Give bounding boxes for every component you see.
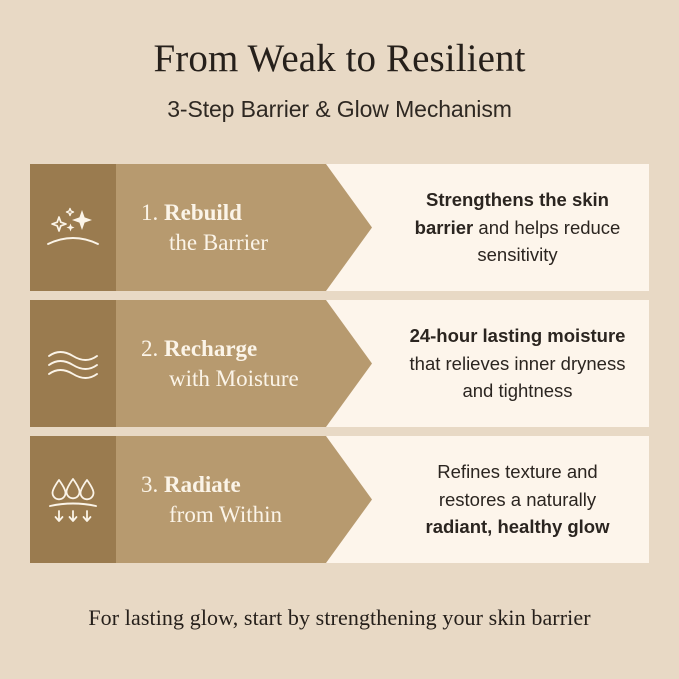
step-row: 2. Recharge with Moisture 24-hour lastin… [30,300,649,427]
footer-tagline: For lasting glow, start by strengthening… [0,605,679,631]
step-number: 1. [141,200,158,225]
step-description: 24-hour lasting moisture that relieves i… [408,322,627,404]
step-description-rest: that relieves inner dryness and tightnes… [410,353,626,401]
step-number: 2. [141,336,158,361]
step-icon-panel [30,164,116,291]
step-description: Strengthens the skin barrier and helps r… [408,186,627,268]
droplets-absorb-icon [44,474,102,526]
step-title-line1: 2. Recharge [141,334,372,363]
step-title-line2: the Barrier [141,228,372,257]
step-title-line2: from Within [141,500,372,529]
sparkles-icon [44,204,102,252]
step-arrow-band: 3. Radiate from Within [116,436,372,563]
step-row: 1. Rebuild the Barrier Strengthens the s… [30,164,649,291]
step-arrow-band: 1. Rebuild the Barrier [116,164,372,291]
step-title-line2: with Moisture [141,364,372,393]
step-arrow-band: 2. Recharge with Moisture [116,300,372,427]
step-description-rest: Refines texture and restores a naturally [437,461,597,509]
step-name: Rebuild [164,200,242,225]
step-description-rest: and helps reduce sensitivity [473,217,620,265]
header: From Weak to Resilient 3-Step Barrier & … [0,0,679,123]
steps-list: 1. Rebuild the Barrier Strengthens the s… [30,164,649,563]
page-subtitle: 3-Step Barrier & Glow Mechanism [0,96,679,123]
step-description-panel: Refines texture and restores a naturally… [372,436,649,563]
step-description-panel: Strengthens the skin barrier and helps r… [372,164,649,291]
step-icon-panel [30,436,116,563]
step-icon-panel [30,300,116,427]
step-name: Recharge [164,336,257,361]
step-description-panel: 24-hour lasting moisture that relieves i… [372,300,649,427]
step-description-bold: 24-hour lasting moisture [410,325,626,346]
step-description: Refines texture and restores a naturally… [408,458,627,540]
step-row: 3. Radiate from Within Refines texture a… [30,436,649,563]
step-title-line1: 3. Radiate [141,470,372,499]
step-name: Radiate [164,472,241,497]
step-number: 3. [141,472,158,497]
waves-icon [44,344,102,384]
step-title-line1: 1. Rebuild [141,198,372,227]
page-title: From Weak to Resilient [0,38,679,80]
infographic-poster: From Weak to Resilient 3-Step Barrier & … [0,0,679,679]
step-description-bold: radiant, healthy glow [426,516,610,537]
